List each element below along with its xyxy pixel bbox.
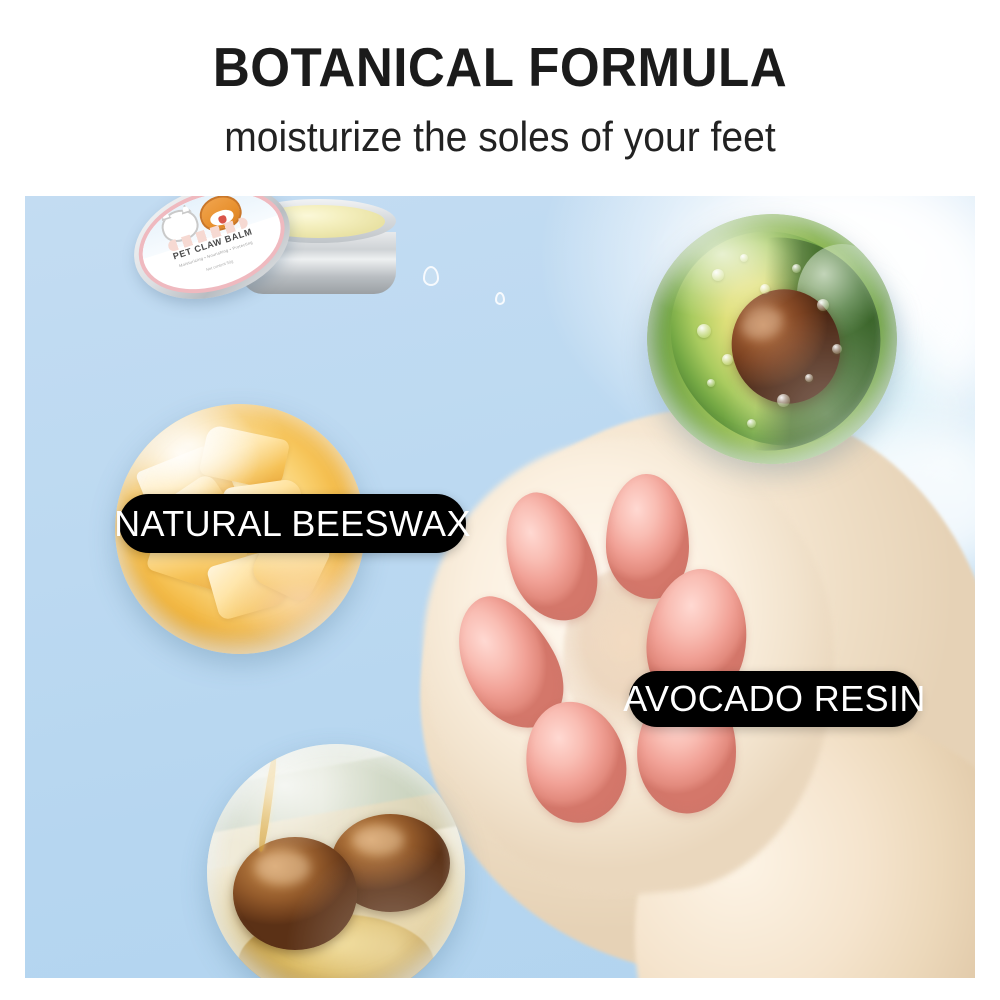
avocado-sphere-fill (647, 214, 897, 464)
page-subtitle: moisturize the soles of your feet (35, 116, 965, 158)
water-droplet-icon (495, 292, 505, 305)
product-photo: PET CLAW BALM Moisturizing • Nourishing … (25, 196, 975, 978)
water-droplet-icon (423, 266, 439, 286)
avocado-sphere (647, 214, 897, 464)
jojoba-seed (233, 837, 357, 951)
cat-paw (449, 462, 811, 869)
ingredient-label-beeswax: NATURAL BEESWAX (119, 494, 466, 553)
page-title: BOTANICAL FORMULA (35, 40, 965, 95)
balm-tin-lid: PET CLAW BALM Moisturizing • Nourishing … (119, 196, 305, 318)
header: BOTANICAL FORMULA moisturize the soles o… (0, 0, 1000, 196)
jojoba-sphere-fill (207, 744, 465, 978)
ingredient-label-avocado: AVOCADO RESIN (629, 671, 920, 727)
marketing-banner: BOTANICAL FORMULA moisturize the soles o… (0, 0, 1000, 1000)
jojoba-sphere (207, 744, 465, 978)
